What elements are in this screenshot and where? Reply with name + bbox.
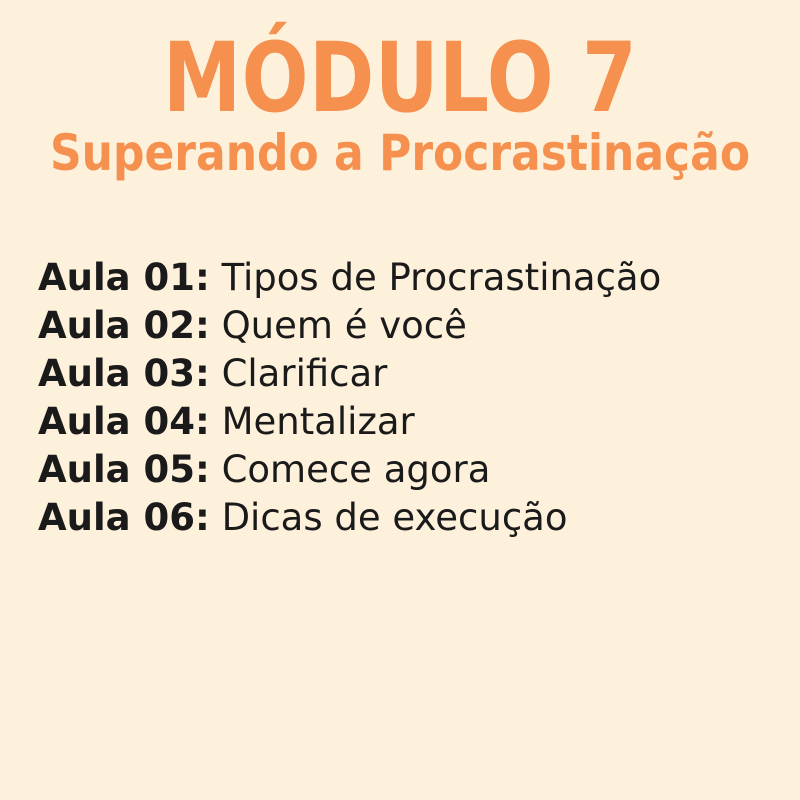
lesson-label: Aula 01:: [38, 256, 210, 299]
list-item: Aula 04: Mentalizar: [38, 398, 768, 446]
lesson-label: Aula 03:: [38, 352, 210, 395]
lesson-title: Quem é você: [222, 304, 467, 347]
list-item: Aula 03: Clarificar: [38, 350, 768, 398]
slide-canvas: MÓDULO 7 Superando a Procrastinação Aula…: [0, 0, 800, 800]
list-item: Aula 02: Quem é você: [38, 302, 768, 350]
lesson-title: Clarificar: [222, 352, 388, 395]
list-item: Aula 05: Comece agora: [38, 446, 768, 494]
lesson-label: Aula 04:: [38, 400, 210, 443]
lesson-title: Dicas de execução: [222, 496, 568, 539]
lesson-label: Aula 06:: [38, 496, 210, 539]
lesson-label: Aula 02:: [38, 304, 210, 347]
lesson-title: Comece agora: [222, 448, 491, 491]
page-subtitle: Superando a Procrastinação: [48, 128, 752, 178]
lesson-title: Tipos de Procrastinação: [222, 256, 662, 299]
list-item: Aula 06: Dicas de execução: [38, 494, 768, 542]
list-item: Aula 01: Tipos de Procrastinação: [38, 254, 768, 302]
lesson-label: Aula 05:: [38, 448, 210, 491]
page-title: MÓDULO 7: [72, 30, 728, 126]
lesson-list: Aula 01: Tipos de Procrastinação Aula 02…: [38, 254, 768, 542]
lesson-title: Mentalizar: [222, 400, 415, 443]
